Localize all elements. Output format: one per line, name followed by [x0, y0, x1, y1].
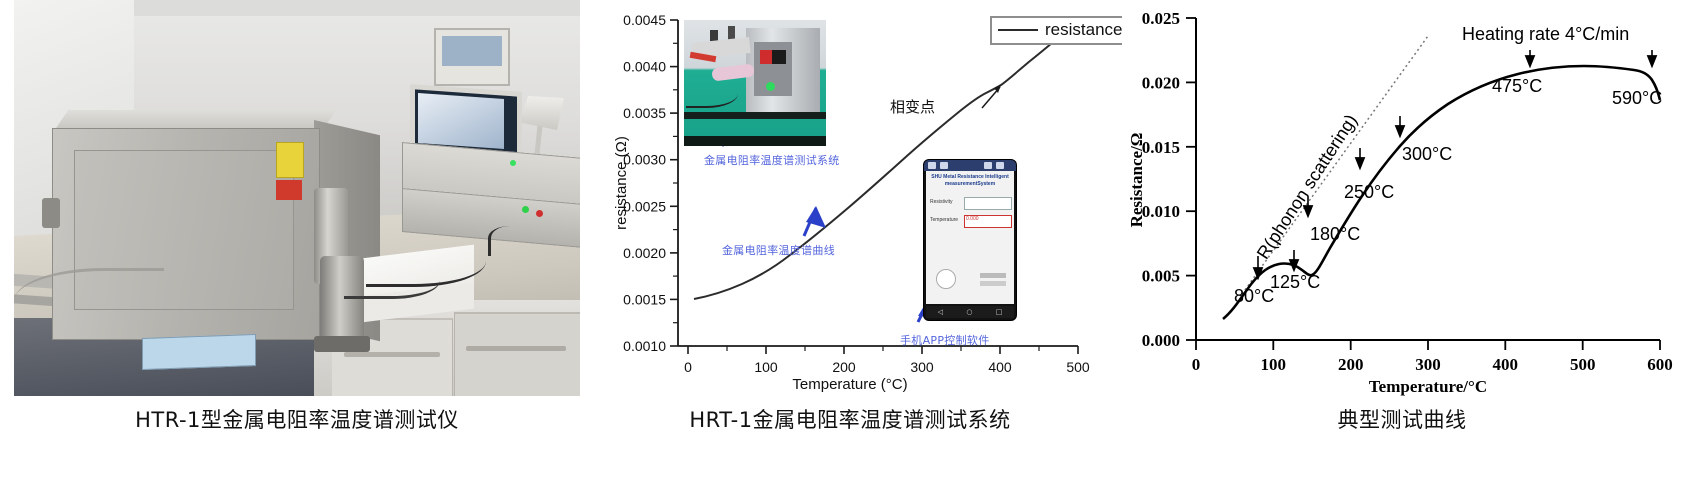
middle-chart-svg: 0.0010 0.0015 0.0020 0.0025 0.0030 0.003… — [600, 0, 1100, 396]
furnace-inset-photo — [684, 20, 826, 146]
phone-battery-icon — [984, 162, 992, 169]
svg-text:100: 100 — [754, 359, 778, 375]
inset-power-led — [766, 82, 775, 91]
panel-typical-curve: 0.000 0.005 0.010 0.015 0.020 0.025 0 10… — [1122, 0, 1682, 396]
svg-text:0.0045: 0.0045 — [623, 12, 666, 28]
svg-text:0.010: 0.010 — [1142, 202, 1180, 221]
phone-status-bar — [924, 160, 1016, 171]
label-80: 80°C — [1234, 286, 1274, 306]
inset-bench-edge — [684, 112, 826, 119]
temperature-value: 0.000 — [966, 216, 979, 222]
label-180: 180°C — [1310, 224, 1360, 244]
svg-text:100: 100 — [1261, 355, 1287, 374]
phone-clock-icon — [996, 162, 1004, 169]
svg-text:400: 400 — [1493, 355, 1519, 374]
svg-text:0: 0 — [1192, 355, 1201, 374]
panel-system-chart: 0.0010 0.0015 0.0020 0.0025 0.0030 0.003… — [600, 0, 1100, 396]
svg-text:Resistance/Ω: Resistance/Ω — [1127, 133, 1146, 228]
right-chart-svg: 0.000 0.005 0.010 0.015 0.020 0.025 0 10… — [1122, 0, 1682, 396]
svg-text:300: 300 — [1415, 355, 1441, 374]
lab-photo — [14, 0, 580, 396]
svg-text:0.025: 0.025 — [1142, 9, 1180, 28]
phase-point-label: 相变点 — [890, 96, 935, 117]
note-system: 金属电阻率温度谱测试系统 — [704, 152, 840, 168]
cable-2 — [344, 262, 440, 299]
label-475: 475°C — [1492, 76, 1542, 96]
sample-cylinder-base — [314, 336, 370, 352]
svg-text:200: 200 — [1338, 355, 1364, 374]
svg-text:200: 200 — [832, 359, 856, 375]
legend-label: resistance — [1045, 20, 1122, 40]
blue-arrow-curve — [804, 206, 826, 236]
svg-text:0.005: 0.005 — [1142, 267, 1180, 286]
svg-text:Temperature/°C: Temperature/°C — [1369, 377, 1487, 396]
cabinet-handle — [42, 198, 60, 228]
legend-line-icon — [998, 29, 1038, 31]
phone-app-mockup[interactable]: SHU Metal Resistance Intelligent measure… — [924, 160, 1016, 320]
middle-xaxis-title: Temperature (°C) — [600, 376, 1100, 393]
svg-text:400: 400 — [988, 359, 1012, 375]
arrow-250 — [1356, 148, 1364, 168]
panel-1-caption: HTR-1型金属电阻率温度谱测试仪 — [14, 404, 580, 434]
svg-text:0.0040: 0.0040 — [623, 59, 666, 75]
drawer-handle-2 — [466, 346, 566, 351]
heating-rate-label: Heating rate 4°C/min — [1462, 24, 1629, 44]
svg-text:resistance (Ω): resistance (Ω) — [613, 136, 630, 230]
temperature-label: Temperature — [930, 217, 958, 223]
phone-nav-bar[interactable]: ◁ ○ □ — [926, 306, 1014, 318]
svg-text:500: 500 — [1570, 355, 1596, 374]
app-row-resistivity[interactable]: Resistivity — [930, 197, 1010, 209]
middle-chart: 0.0010 0.0015 0.0020 0.0025 0.0030 0.003… — [600, 0, 1100, 396]
svg-text:600: 600 — [1647, 355, 1673, 374]
svg-text:0: 0 — [684, 359, 692, 375]
arrow-590 — [1648, 50, 1656, 66]
instrument-nameplate — [142, 334, 256, 370]
svg-text:0.0020: 0.0020 — [623, 245, 666, 261]
phone-screen[interactable]: SHU Metal Resistance Intelligent measure… — [926, 171, 1014, 304]
app-dial-control[interactable] — [936, 269, 956, 289]
drawer-handle-1 — [344, 352, 440, 357]
inset-bench-shadow — [684, 136, 826, 146]
app-row-temperature[interactable]: Temperature 0.000 — [930, 215, 1010, 227]
resistivity-label: Resistivity — [930, 199, 953, 205]
app-button-2[interactable] — [980, 281, 1006, 286]
bench-drawer-2 — [454, 312, 580, 396]
resistivity-input[interactable] — [964, 197, 1012, 210]
svg-text:0.015: 0.015 — [1142, 138, 1180, 157]
lab-photo-canvas — [14, 0, 580, 396]
svg-text:0.0010: 0.0010 — [623, 338, 666, 354]
figure-root: HTR-1型金属电阻率温度谱测试仪 — [0, 0, 1700, 480]
rack-led-green — [522, 206, 529, 213]
inset-controller-readout — [760, 50, 772, 64]
svg-text:300: 300 — [910, 359, 934, 375]
warning-label-yellow — [276, 142, 304, 178]
phone-signal-icon — [928, 162, 936, 169]
label-300: 300°C — [1402, 144, 1452, 164]
warning-label-red — [276, 180, 302, 200]
svg-text:0.0035: 0.0035 — [623, 105, 666, 121]
home-icon[interactable]: ○ — [966, 308, 972, 316]
rack-led-red — [536, 210, 543, 217]
wall-display-screen — [442, 36, 502, 66]
panel-3-caption: 典型测试曲线 — [1122, 404, 1682, 434]
app-button-1[interactable] — [980, 273, 1006, 278]
label-250: 250°C — [1344, 182, 1394, 202]
legend: resistance — [990, 16, 1132, 45]
recents-icon[interactable]: □ — [996, 308, 1003, 316]
arrow-475 — [1526, 50, 1534, 66]
label-590: 590°C — [1612, 88, 1662, 108]
note-app: 手机APP控制软件 — [900, 332, 990, 348]
inset-wire — [686, 84, 738, 108]
svg-text:0.0015: 0.0015 — [623, 291, 666, 307]
svg-text:500: 500 — [1066, 359, 1090, 375]
label-125: 125°C — [1270, 272, 1320, 292]
svg-text:0.020: 0.020 — [1142, 73, 1180, 92]
svg-text:0.000: 0.000 — [1142, 331, 1180, 350]
back-icon[interactable]: ◁ — [938, 308, 943, 316]
panel-instrument-photo: HTR-1型金属电阻率温度谱测试仪 — [14, 0, 580, 396]
note-curve: 金属电阻率温度谱曲线 — [722, 242, 835, 258]
monitor-screen — [418, 93, 504, 149]
app-title: SHU Metal Resistance Intelligent measure… — [930, 174, 1010, 188]
arrow-300 — [1396, 116, 1404, 136]
phone-wifi-icon — [940, 162, 948, 169]
panel-2-caption: HRT-1金属电阻率温度谱测试系统 — [600, 404, 1100, 434]
rack-led-green-2 — [510, 160, 516, 166]
right-chart: 0.000 0.005 0.010 0.015 0.020 0.025 0 10… — [1122, 0, 1682, 396]
cable-3 — [488, 226, 543, 256]
